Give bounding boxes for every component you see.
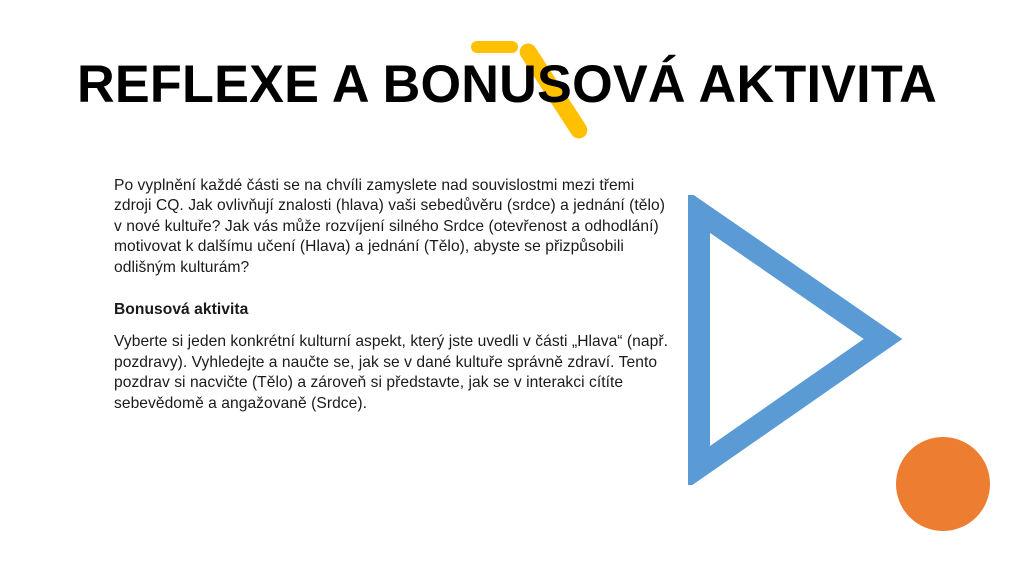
yellow-bar-mark-icon	[471, 41, 518, 53]
slide-body-text: Po vyplnění každé části se na chvíli zam…	[114, 176, 670, 414]
triangle-path	[699, 212, 883, 467]
blue-triangle-outline-icon	[680, 195, 905, 485]
orange-circle-icon	[896, 437, 990, 531]
title-area: REFLEXE A BONUSOVÁ AKTIVITA	[0, 0, 1024, 150]
intro-paragraph: Po vyplnění každé části se na chvíli zam…	[114, 176, 670, 278]
presentation-slide: REFLEXE A BONUSOVÁ AKTIVITA Po vyplnění …	[0, 0, 1024, 576]
bonus-activity-heading: Bonusová aktivita	[114, 300, 670, 320]
bonus-activity-paragraph: Vyberte si jeden konkrétní kulturní aspe…	[114, 332, 670, 414]
page-title: REFLEXE A BONUSOVÁ AKTIVITA	[77, 57, 937, 113]
